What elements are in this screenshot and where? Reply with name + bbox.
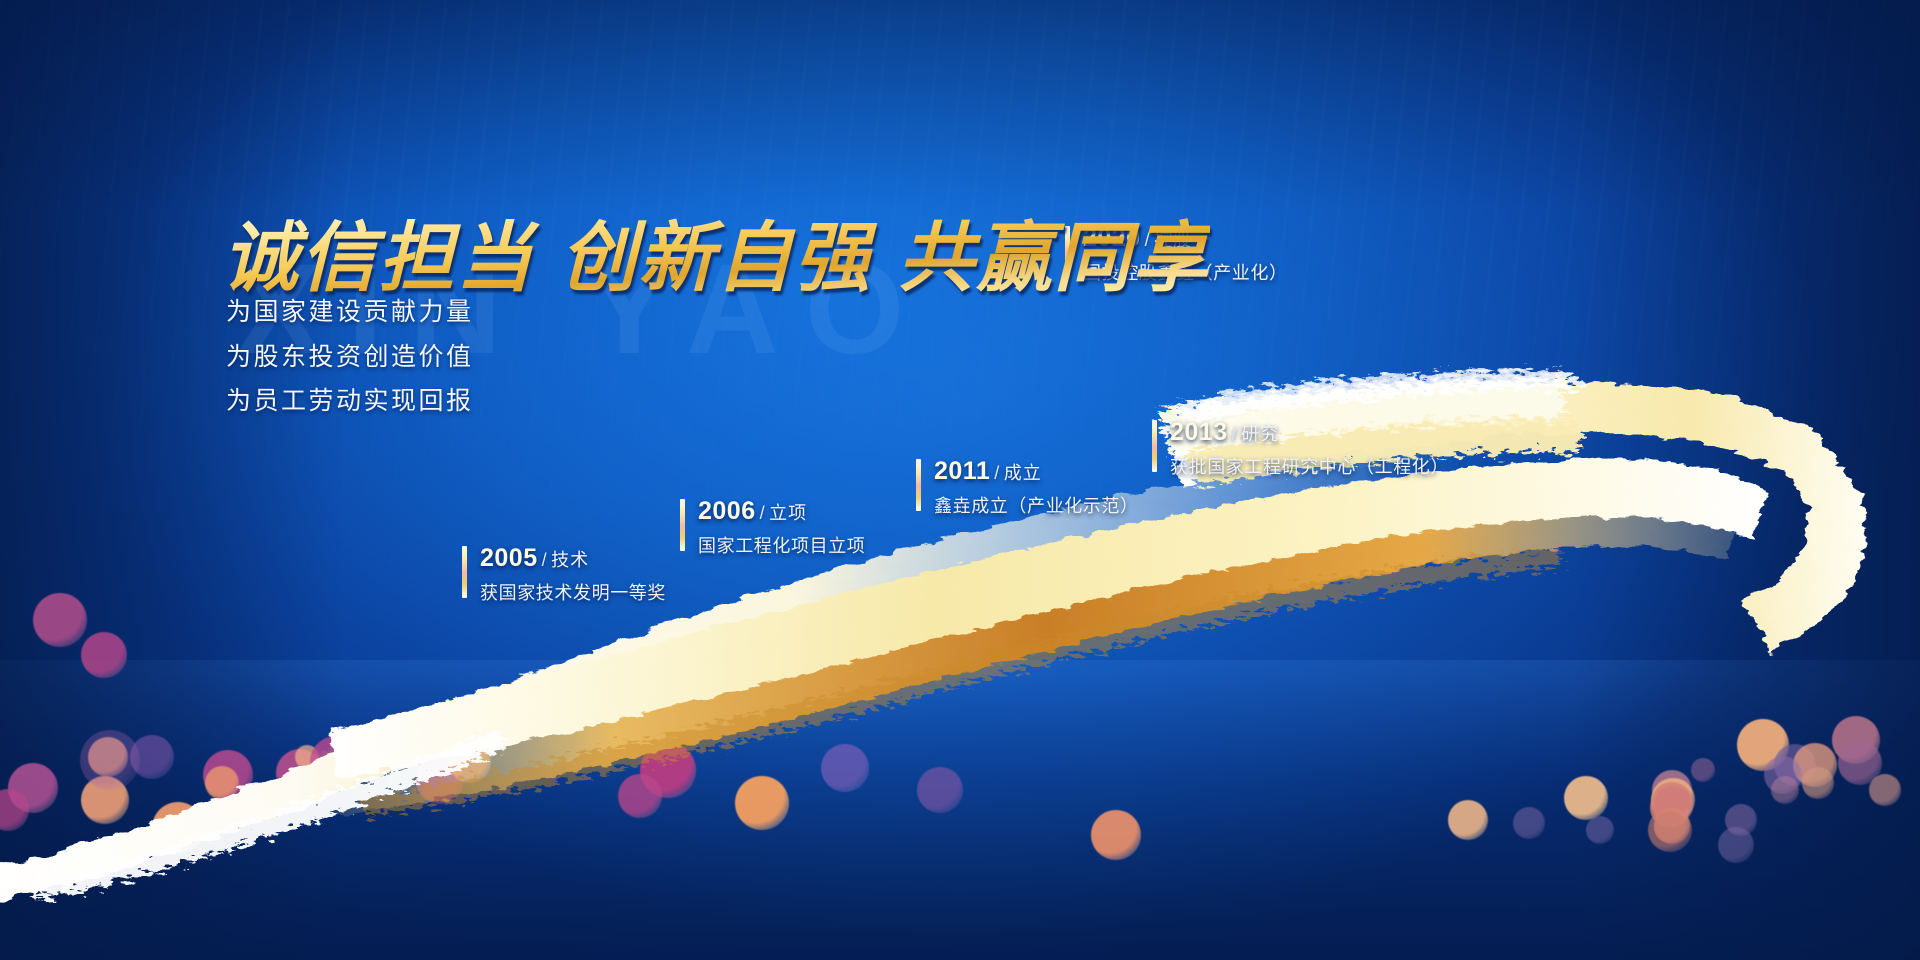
headline-part-2: 创新自强: [560, 213, 872, 302]
bokeh-light: [152, 802, 204, 854]
milestone-tag: 立项: [769, 503, 807, 523]
page-title: 诚信担当创新自强共赢同享: [222, 196, 1210, 306]
bokeh-light: [735, 776, 789, 830]
milestone-year-number: 2006: [698, 497, 756, 525]
bokeh-light: [80, 730, 140, 790]
milestone-year: 2013/研究: [1170, 418, 1279, 447]
milestone-year-number: 2013: [1170, 418, 1228, 446]
milestone-accent-bar: [1152, 420, 1157, 472]
milestone-year-number: 2005: [480, 544, 538, 572]
bokeh-light: [917, 767, 963, 813]
milestone-separator: /: [1232, 424, 1238, 444]
bokeh-light: [1802, 767, 1834, 799]
milestone-description: 鑫垚成立（产业化示范）: [934, 492, 1139, 518]
milestone-separator: /: [542, 550, 548, 570]
bokeh-light: [1091, 810, 1141, 860]
bokeh-light: [363, 733, 403, 773]
milestone-tag: 技术: [551, 550, 589, 570]
headline-part-1: 诚信担当: [222, 213, 534, 302]
bokeh-light: [1869, 774, 1901, 806]
bokeh-light: [618, 774, 662, 818]
bokeh-light: [1691, 758, 1715, 782]
milestone-year: 2005/技术: [480, 544, 589, 573]
milestone-tag: 成立: [1004, 463, 1042, 483]
bokeh-light: [1718, 827, 1754, 863]
bokeh-light: [1586, 816, 1614, 844]
bokeh-light: [1448, 800, 1488, 840]
milestone-description: 获国家技术发明一等奖: [480, 579, 666, 605]
milestone-separator: /: [760, 503, 766, 523]
slogan-line-2: 为股东投资创造价值: [226, 337, 474, 373]
bokeh-light: [310, 736, 362, 788]
slogan-line-1: 为国家建设贡献力量: [226, 292, 474, 328]
milestone-accent-bar: [680, 499, 685, 551]
milestone-year-number: 2011: [934, 457, 990, 485]
milestone-separator: /: [994, 463, 1000, 483]
bokeh-light: [1771, 776, 1799, 804]
milestone-accent-bar: [462, 546, 467, 598]
bokeh-light: [33, 593, 87, 647]
bokeh-light: [1564, 776, 1608, 820]
slogan-line-3: 为员工劳动实现回报: [226, 381, 474, 417]
milestone-description: 国家工程化项目立项: [698, 532, 865, 558]
milestone-description: 获批国家工程研究中心（工程化）: [1170, 453, 1449, 479]
bokeh-light: [1648, 808, 1692, 852]
bokeh-light: [1513, 807, 1545, 839]
milestone-accent-bar: [916, 459, 921, 511]
bokeh-light: [821, 744, 869, 792]
milestone-year: 2011/成立: [934, 457, 1042, 486]
milestone-tag: 研究: [1241, 424, 1279, 444]
bokeh-light: [81, 632, 127, 678]
banner-canvas: XIN YAO: [0, 0, 1920, 960]
headline-part-3: 共赢同享: [898, 213, 1210, 302]
milestone-year: 2006/立项: [698, 497, 807, 526]
bokeh-light: [449, 741, 491, 783]
bokeh-light: [205, 766, 239, 800]
